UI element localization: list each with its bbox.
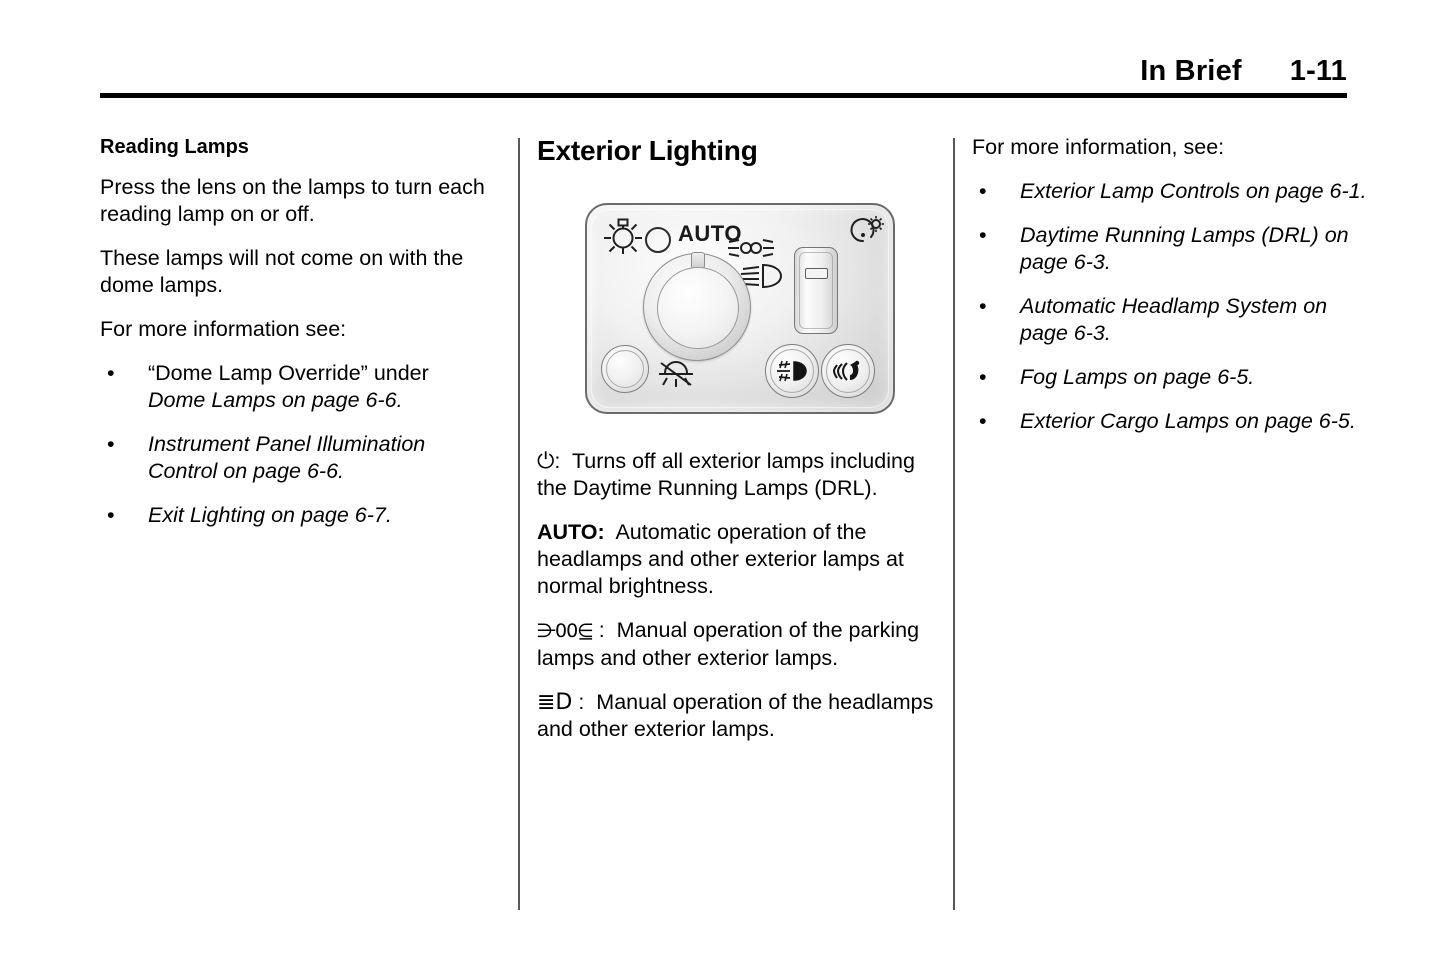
low-beam-headlamp-icon: ≣D <box>537 690 572 715</box>
cargo-lamp-button[interactable] <box>821 344 875 398</box>
exterior-lighting-heading: Exterior Lighting <box>537 134 937 168</box>
header-rule <box>100 93 1347 98</box>
definition-separator: : <box>599 618 605 642</box>
control-panel-body: AUTO <box>585 203 895 414</box>
page-title: In Brief <box>1140 55 1242 87</box>
list-item: •Exit Lighting on page 6-7. <box>100 502 492 529</box>
bullet-marker: • <box>979 408 987 435</box>
exterior-lamp-control-panel-illustration: AUTO <box>537 190 937 422</box>
headlamp-control-knob[interactable] <box>643 253 751 361</box>
cargo-lamp-icon <box>831 359 865 383</box>
list-item: •Fog Lamps on page 6-5. <box>972 364 1372 391</box>
list-item: •Exterior Lamp Controls on page 6-1. <box>972 178 1372 205</box>
list-item-reference: Fog Lamps on page 6-5. <box>1020 365 1254 389</box>
fog-lamp-icon <box>775 360 809 382</box>
bullet-marker: • <box>979 222 987 249</box>
parking-lamp-icon: ⋺00⋸ <box>537 620 593 642</box>
list-item-reference: Automatic Headlamp System on page 6-3. <box>1020 294 1327 345</box>
bullet-marker: • <box>979 364 987 391</box>
list-item-reference: Instrument Panel Illumination Control on… <box>148 432 425 483</box>
list-item: •“Dome Lamp Override” under Dome Lamps o… <box>100 360 492 414</box>
list-item: •Exterior Cargo Lamps on page 6-5. <box>972 408 1372 435</box>
definition-text: Manual operation of the headlamps and ot… <box>537 690 933 741</box>
list-item-lead: “Dome Lamp Override” under <box>148 361 429 385</box>
definition-parking-lamp: ⋺00⋸ : Manual operation of the parking l… <box>537 617 937 672</box>
list-item-reference: Exterior Cargo Lamps on page 6-5. <box>1020 409 1356 433</box>
auto-term: AUTO <box>537 520 598 544</box>
page-header: In Brief1-11 <box>100 52 1347 100</box>
bullet-marker: • <box>107 360 115 387</box>
right-column-intro: For more information, see: <box>972 134 1372 161</box>
dome-lamp-off-icon <box>653 361 699 395</box>
definition-headlamp: ≣D : Manual operation of the headlamps a… <box>537 689 937 743</box>
auto-position-circle <box>645 227 671 253</box>
left-reference-list: •“Dome Lamp Override” under Dome Lamps o… <box>100 360 492 529</box>
definition-separator: : <box>598 520 605 544</box>
right-reference-list: •Exterior Lamp Controls on page 6-1. •Da… <box>972 178 1372 435</box>
reading-lamps-heading: Reading Lamps <box>100 134 492 160</box>
definition-text: Manual operation of the parking lamps an… <box>537 618 919 670</box>
header-text-row: In Brief1-11 <box>100 52 1347 90</box>
paragraph: These lamps will not come on with the do… <box>100 245 492 299</box>
bullet-marker: • <box>979 293 987 320</box>
content-columns: Reading Lamps Press the lens on the lamp… <box>0 134 1445 924</box>
bullet-marker: • <box>107 431 115 458</box>
paragraph: Press the lens on the lamps to turn each… <box>100 174 492 228</box>
list-item-reference: Dome Lamps on page 6-6. <box>148 388 403 412</box>
definition-auto: AUTO: Automatic operation of the headlam… <box>537 519 937 600</box>
fog-lamp-button[interactable] <box>765 344 819 398</box>
list-item: •Automatic Headlamp System on page 6-3. <box>972 293 1372 347</box>
left-column: Reading Lamps Press the lens on the lamp… <box>100 134 492 529</box>
right-column: For more information, see: •Exterior Lam… <box>972 134 1372 435</box>
parking-lamp-icon <box>727 235 775 261</box>
definition-text: Turns off all exterior lamps including t… <box>537 449 915 500</box>
dimmer-rocker-switch[interactable] <box>794 247 838 334</box>
list-item-reference: Exit Lighting on page 6-7. <box>148 503 392 527</box>
list-item: •Instrument Panel Illumination Control o… <box>100 431 492 485</box>
column-divider-right <box>953 138 955 910</box>
paragraph: For more information see: <box>100 316 492 343</box>
power-off-icon: ⏻ <box>537 449 554 474</box>
dome-lamp-button[interactable] <box>601 345 649 393</box>
dome-lamp-sun-icon <box>601 217 645 257</box>
list-item-reference: Daytime Running Lamps (DRL) on page 6-3. <box>1020 223 1349 274</box>
bullet-marker: • <box>979 178 987 205</box>
bullet-marker: • <box>107 502 115 529</box>
middle-column: Exterior Lighting <box>537 134 937 743</box>
knob-inner-face <box>657 267 739 349</box>
instrument-panel-dimmer-icon <box>849 215 885 247</box>
page-number: 1-11 <box>1290 55 1347 87</box>
definition-separator: : <box>554 449 560 473</box>
definition-separator: : <box>578 690 584 714</box>
list-item: •Daytime Running Lamps (DRL) on page 6-3… <box>972 222 1372 276</box>
column-divider-left <box>518 138 520 910</box>
rocker-slot <box>805 268 828 279</box>
list-item-reference: Exterior Lamp Controls on page 6-1. <box>1020 179 1367 203</box>
definition-power-off: ⏻: Turns off all exterior lamps includin… <box>537 448 937 502</box>
